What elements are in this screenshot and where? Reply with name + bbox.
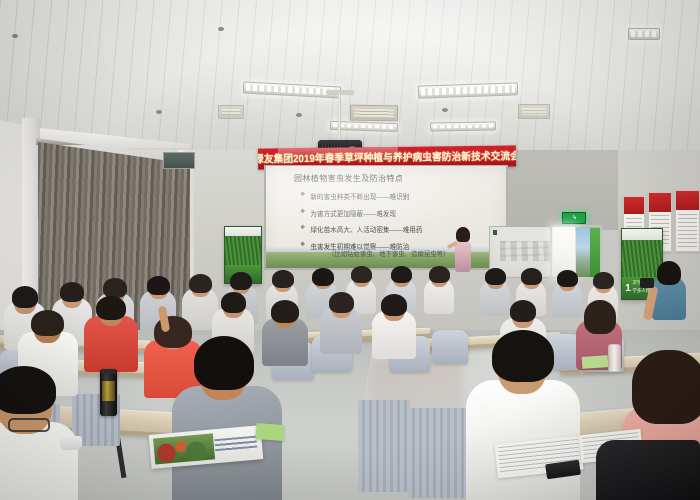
- attendee-hair: [593, 272, 614, 289]
- attendee-hair: [329, 292, 354, 313]
- attendee-glasses-icon: [8, 418, 50, 432]
- bullet-marker-icon: ❖: [300, 224, 305, 232]
- event-banner-text: 绿友集团2019年春季草坪种植与养护病虫害防治新技术交流会: [258, 148, 516, 166]
- attendee-hair: [12, 286, 38, 308]
- rollup-header: [225, 227, 261, 236]
- wall-poster: [675, 190, 700, 252]
- thermos-label: [102, 381, 115, 401]
- poster-text-lines: [678, 214, 697, 247]
- brochure-photo: [153, 433, 215, 464]
- attendee-hair: [189, 274, 212, 293]
- wall-plaque: [163, 152, 195, 169]
- attendee-hair: [272, 270, 294, 288]
- attendee-hair: [557, 270, 578, 287]
- attendee-hair: [194, 336, 254, 390]
- mobile-phone: [640, 278, 654, 288]
- rollup-header: [622, 229, 662, 240]
- attendee-hair: [103, 278, 127, 298]
- ceiling-sensor: [218, 27, 224, 31]
- chair-skirt: [408, 408, 472, 498]
- attendee-hair: [632, 350, 700, 424]
- slide-note: （比如钻蛀害虫、地下害虫、造瘿昆虫等）: [328, 249, 449, 258]
- poster-header: [649, 193, 671, 212]
- attendee-hair: [221, 292, 246, 313]
- thermos-cap: [101, 369, 116, 374]
- attendee-hair: [271, 300, 299, 323]
- brochure-text-block: [214, 436, 257, 452]
- ceiling-sensor: [12, 34, 18, 38]
- poster-header: [676, 191, 699, 210]
- handout-document[interactable]: [255, 423, 284, 441]
- bullet-marker-icon: ❖: [300, 241, 305, 249]
- bullet-marker-icon: ❖: [300, 208, 305, 216]
- ceiling-light-fixture: [430, 121, 496, 131]
- attendee-hair: [60, 282, 84, 302]
- attendee-hair: [391, 266, 412, 283]
- slide-title: 园林植物害虫发生及防治特点: [294, 173, 403, 184]
- conference-room-photo: 绿友集团2019年春季草坪种植与养护病虫害防治新技术交流会 园林植物害虫发生及防…: [0, 0, 700, 500]
- slide-bullet: ❖ 新的害虫种类不断出现——难识别: [300, 191, 500, 201]
- ceiling-sensor: [442, 108, 448, 112]
- attendee-hair: [96, 296, 126, 320]
- attendee-hair: [351, 266, 372, 283]
- attendee-body: [0, 422, 78, 500]
- doorway-green-panel: [590, 228, 600, 277]
- slide-bullet-text: 新的害虫种类不断出现——难识别: [310, 191, 409, 201]
- attendee-hair: [584, 300, 616, 334]
- ceiling-sensor: [156, 110, 162, 114]
- attendee-hair: [485, 268, 506, 285]
- rollup-grass-image: [622, 240, 662, 276]
- ac-vent: [518, 104, 550, 119]
- attendee-hair: [230, 272, 252, 290]
- black-thermos[interactable]: [100, 369, 117, 416]
- ceiling-light-fixture: [628, 28, 660, 40]
- ac-vent: [218, 105, 244, 119]
- chair: [432, 330, 468, 364]
- attendee-hair: [429, 266, 450, 283]
- white-cup[interactable]: [60, 436, 82, 450]
- whiteboard-clip-icon: [493, 230, 497, 235]
- slide-bullet-text: 绿化苗木高大、人活动密集——难用药: [310, 224, 422, 234]
- water-bottle[interactable]: [608, 344, 621, 372]
- attendee-hair: [521, 268, 542, 285]
- projector-mount-pole: [338, 93, 341, 143]
- presenter-body: [455, 240, 471, 272]
- presenter-hair: [456, 227, 470, 242]
- dark-bag: [596, 440, 700, 500]
- handout-document[interactable]: [582, 355, 609, 369]
- rollup-grass-image: [225, 236, 261, 265]
- attendee-hair: [312, 268, 334, 286]
- slide-bullet: ❖ 绿化苗木高大、人活动密集——难用药: [300, 224, 500, 234]
- ac-vent: [350, 105, 398, 122]
- attendee-hair: [510, 300, 536, 322]
- ceiling-sensor: [296, 113, 302, 117]
- attendee-hair: [492, 330, 554, 382]
- attendee-hair: [147, 276, 170, 295]
- attendee-hair: [657, 261, 681, 285]
- slide-bullet-text: 为害方式更加隐蔽——难发现: [310, 208, 396, 218]
- chair-skirt: [358, 400, 410, 492]
- attendee-hair: [0, 366, 56, 414]
- rollup-number: 1: [625, 284, 631, 293]
- bullet-marker-icon: ❖: [300, 191, 305, 199]
- attendee-hair: [381, 294, 407, 316]
- poster-header: [624, 197, 644, 214]
- slide-bullet: ❖ 为害方式更加隐蔽——难发现: [300, 208, 500, 218]
- exit-sign: ↳: [562, 212, 586, 224]
- whiteboard-writing: [500, 241, 550, 261]
- attendee-hair: [31, 310, 64, 336]
- exit-arrow-icon: ↳: [572, 214, 576, 222]
